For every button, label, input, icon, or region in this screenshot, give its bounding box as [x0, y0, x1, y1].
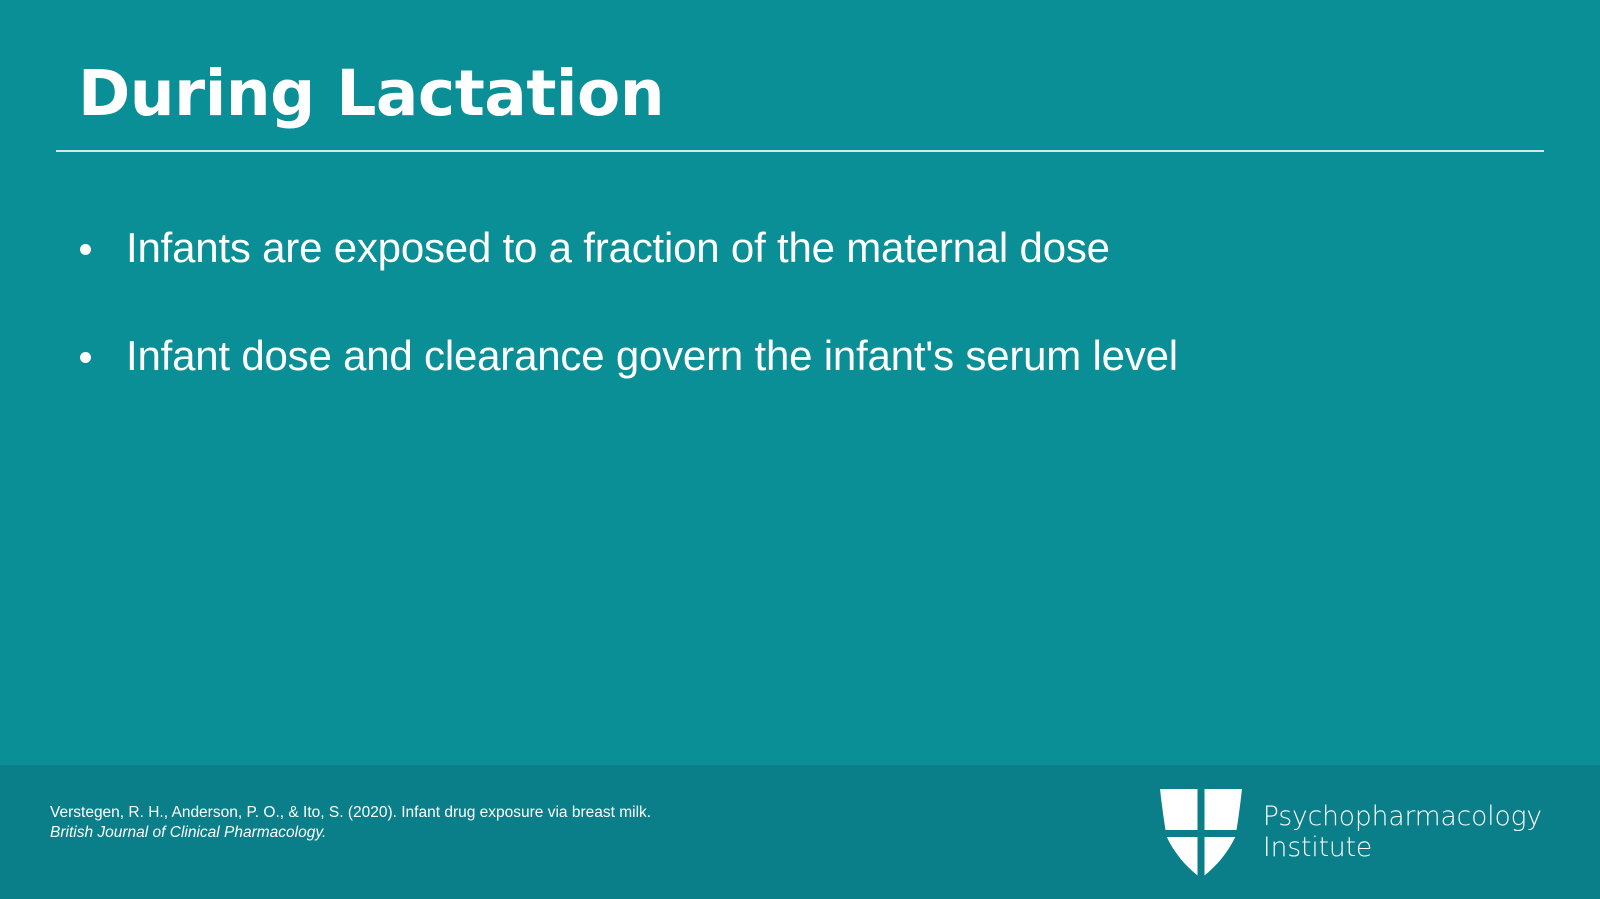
- brand-wordmark: Psychopharmacology Institute: [1263, 801, 1542, 864]
- list-item: Infants are exposed to a fraction of the…: [0, 218, 1480, 278]
- brand-wordmark-line1: Psychopharmacology: [1263, 801, 1542, 832]
- list-item-label: Infant dose and clearance govern the inf…: [126, 329, 1178, 383]
- slide-canvas: During Lactation Infants are exposed to …: [0, 0, 1600, 899]
- bullet-dot-icon: [80, 352, 91, 363]
- footer-band: Verstegen, R. H., Anderson, P. O., & Ito…: [0, 765, 1600, 899]
- bullet-dot-icon: [80, 244, 91, 255]
- brand-wordmark-line2: Institute: [1263, 832, 1542, 863]
- shield-quadrant-icon: [1156, 785, 1246, 879]
- citation: Verstegen, R. H., Anderson, P. O., & Ito…: [50, 803, 651, 844]
- title-divider: [56, 150, 1544, 152]
- citation-journal-line: British Journal of Clinical Pharmacology…: [50, 823, 651, 843]
- bullet-list: Infants are exposed to a fraction of the…: [0, 218, 1480, 434]
- list-item: Infant dose and clearance govern the inf…: [0, 326, 1480, 386]
- page-title: During Lactation: [78, 62, 664, 125]
- list-item-label: Infants are exposed to a fraction of the…: [126, 221, 1110, 275]
- brand-logo: Psychopharmacology Institute: [1156, 785, 1542, 879]
- citation-reference-line: Verstegen, R. H., Anderson, P. O., & Ito…: [50, 803, 651, 823]
